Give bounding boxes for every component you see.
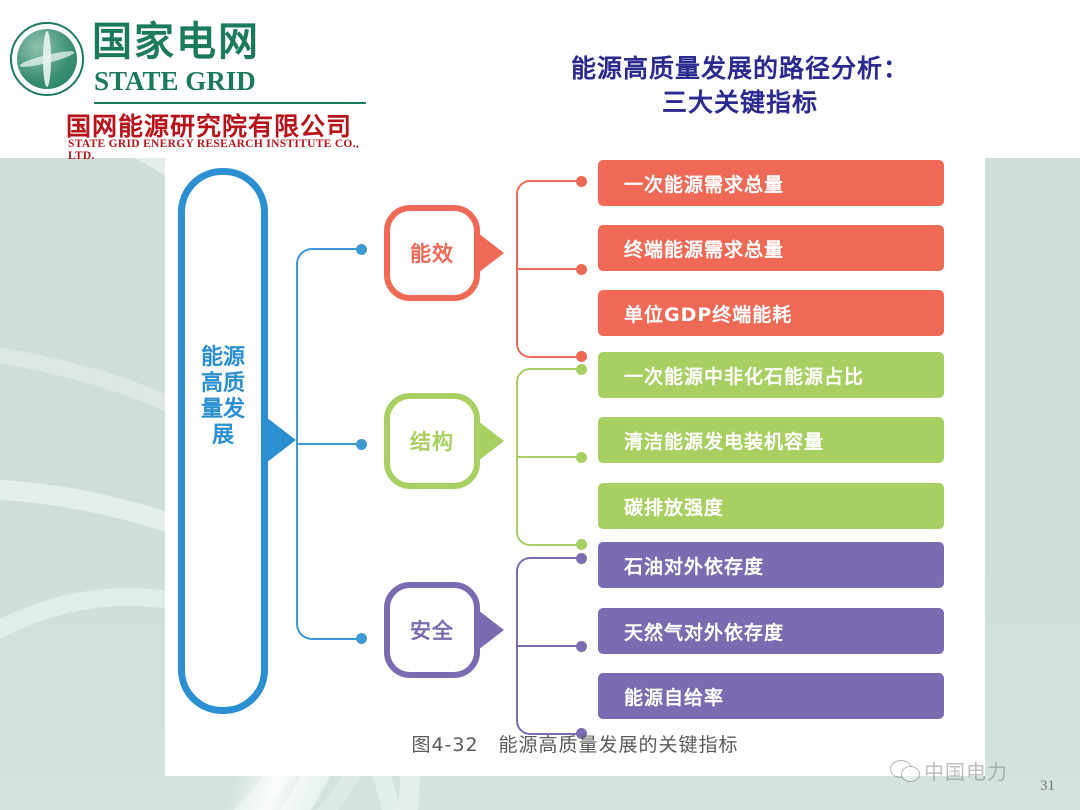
indicator-pill[interactable]: 清洁能源发电装机容量 <box>598 417 944 463</box>
page-title: 能源高质量发展的路径分析： 三大关键指标 <box>480 52 1000 120</box>
logo-company-cn: 国家电网 <box>92 20 260 64</box>
indicator-pill[interactable]: 单位GDP终端能耗 <box>598 290 944 336</box>
logo-company-en: STATE GRID <box>94 66 256 97</box>
category-node-0-arrow-icon <box>478 233 504 273</box>
branch-dot <box>576 539 587 550</box>
indicator-pill[interactable]: 碳排放强度 <box>598 483 944 529</box>
category-node-1-arrow-icon <box>478 421 504 461</box>
page-title-line1: 能源高质量发展的路径分析： <box>480 52 1000 86</box>
indicator-pill[interactable]: 能源自给率 <box>598 673 944 719</box>
wechat-icon <box>890 760 920 782</box>
slide-canvas: 国家电网 STATE GRID 国网能源研究院有限公司 STATE GRID E… <box>0 0 1080 810</box>
state-grid-globe-emblem-icon <box>10 22 84 96</box>
branch-bracket-1 <box>516 368 588 546</box>
wechat-watermark: 中国电力 <box>890 756 1008 785</box>
category-node-2[interactable]: 安全 <box>384 582 480 678</box>
branch-bracket-2 <box>516 557 588 735</box>
branch-dot <box>576 264 587 275</box>
trunk-arrow-icon <box>262 414 296 466</box>
branch-dot <box>576 641 587 652</box>
branch-dot <box>576 364 587 375</box>
state-grid-logo: 国家电网 STATE GRID 国网能源研究院有限公司 STATE GRID E… <box>10 12 370 144</box>
category-node-0[interactable]: 能效 <box>384 205 480 301</box>
category-node-1-label: 结构 <box>410 426 454 456</box>
connector-dot <box>356 439 367 450</box>
category-node-2-arrow-icon <box>478 610 504 650</box>
indicator-pill[interactable]: 石油对外依存度 <box>598 542 944 588</box>
category-node-0-label: 能效 <box>410 238 454 268</box>
page-title-line2: 三大关键指标 <box>480 86 1000 120</box>
branch-dot <box>576 553 587 564</box>
branch-dot <box>576 452 587 463</box>
branch-dot <box>576 176 587 187</box>
indicator-pill[interactable]: 终端能源需求总量 <box>598 225 944 271</box>
category-node-2-label: 安全 <box>410 615 454 645</box>
page-number: 31 <box>1040 778 1055 795</box>
logo-divider <box>94 102 366 104</box>
indicator-pill[interactable]: 一次能源需求总量 <box>598 160 944 206</box>
connector-dot <box>356 244 367 255</box>
slide-header: 国家电网 STATE GRID 国网能源研究院有限公司 STATE GRID E… <box>0 0 1080 158</box>
branch-bracket-0 <box>516 180 588 358</box>
main-connector-bracket <box>296 248 368 640</box>
indicator-pill[interactable]: 天然气对外依存度 <box>598 608 944 654</box>
trunk-label: 能源高质量发展 <box>200 345 246 449</box>
branch-dot <box>576 351 587 362</box>
connector-dot <box>356 633 367 644</box>
indicator-pill[interactable]: 一次能源中非化石能源占比 <box>598 352 944 398</box>
category-node-1[interactable]: 结构 <box>384 393 480 489</box>
watermark-label: 中国电力 <box>924 756 1008 785</box>
figure-caption: 图4-32 能源高质量发展的关键指标 <box>165 730 985 757</box>
